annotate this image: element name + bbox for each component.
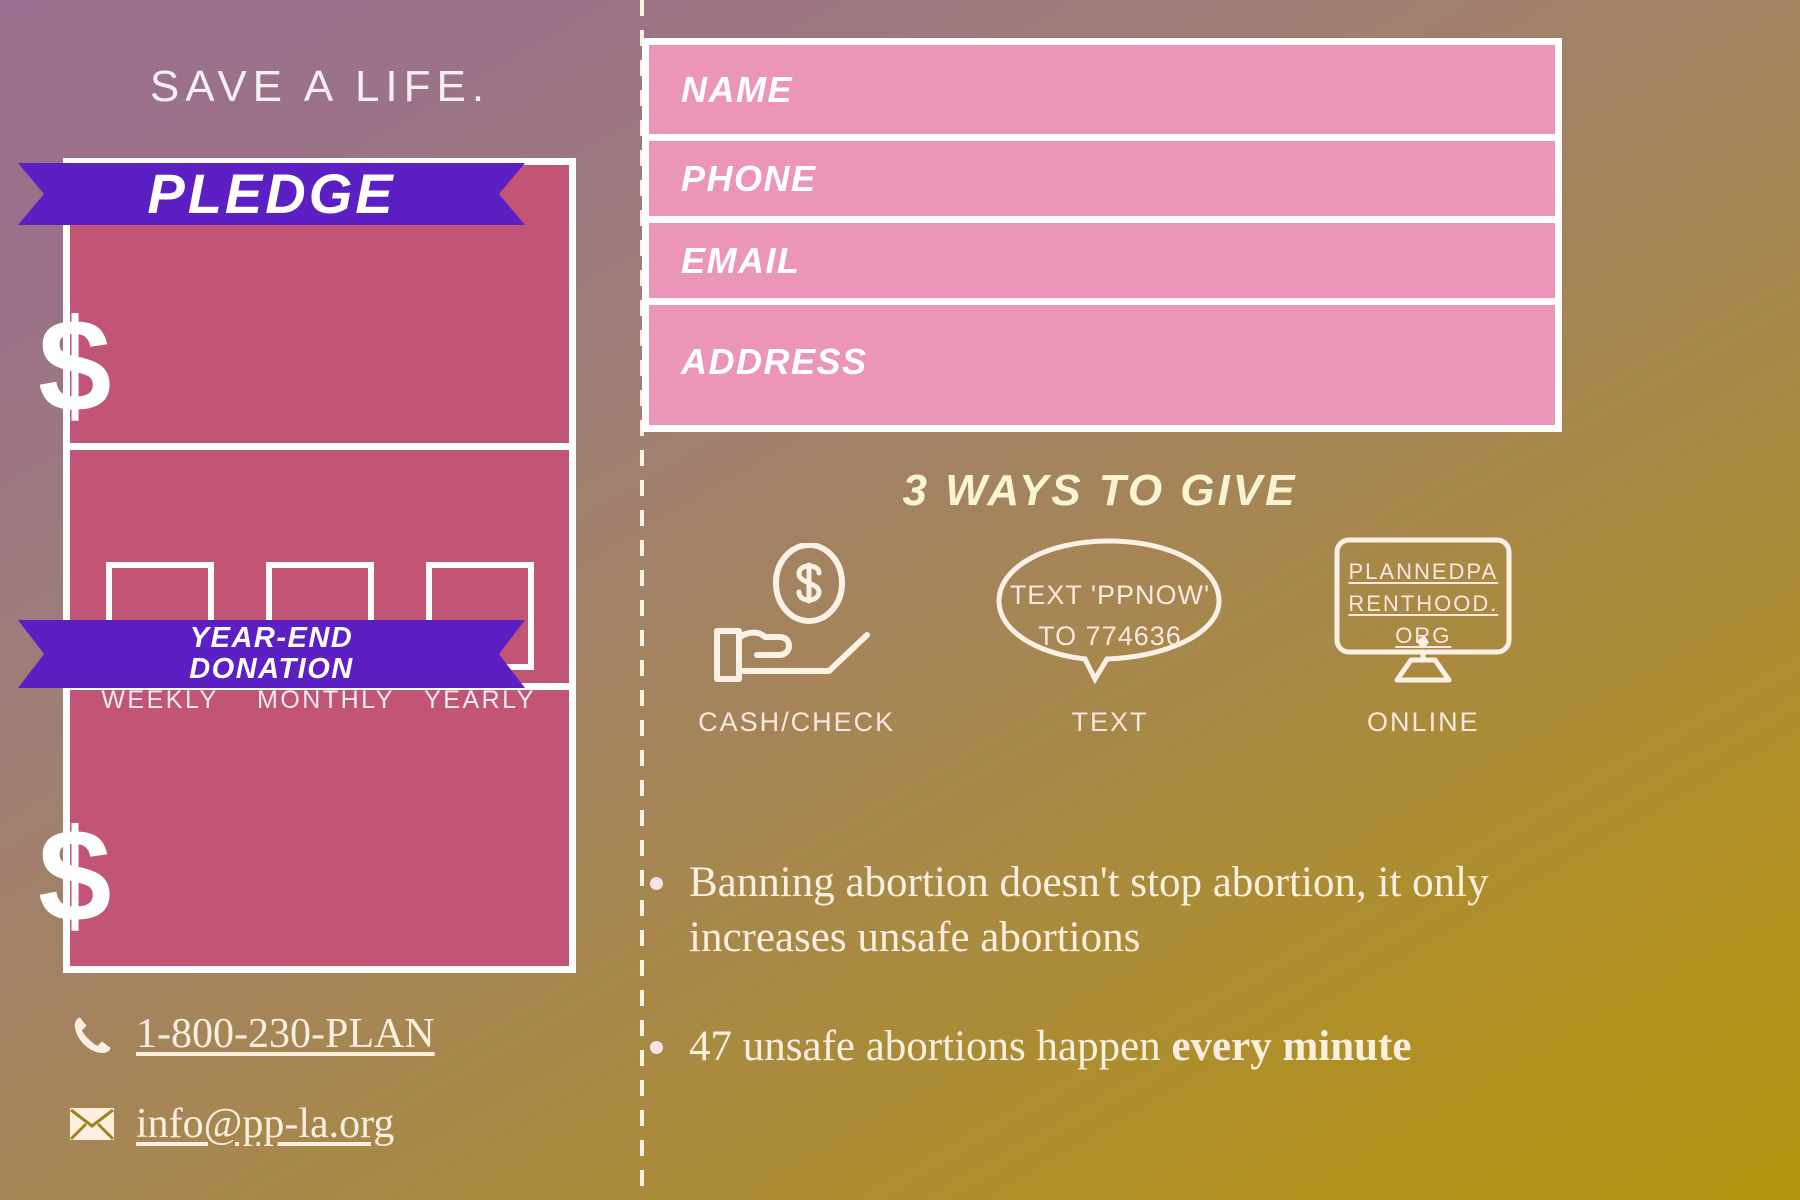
ways-to-give-list: CASH/CHECK TEXT 'PPNOW' TO 774636 TEXT: [640, 540, 1580, 738]
year-end-ribbon-line1: YEAR-END: [190, 623, 353, 654]
contact-phone[interactable]: 1-800-230-PLAN: [68, 1010, 435, 1058]
bullet-dot-icon: [650, 1041, 663, 1054]
list-item: 47 unsafe abortions happen every minute: [650, 1019, 1550, 1074]
envelope-icon: [68, 1102, 116, 1146]
year-end-donation-ribbon: YEAR-END DONATION: [44, 620, 499, 688]
fact-text-1: Banning abortion doesn't stop abortion, …: [689, 855, 1550, 965]
frequency-label-monthly: MONTHLY: [257, 686, 383, 715]
way-online[interactable]: PLANNEDPA RENTHOOD. ORG ONLINE: [1278, 540, 1568, 738]
contact-email[interactable]: info@pp-la.org: [68, 1100, 394, 1148]
way-cash-check-label: CASH/CHECK: [698, 707, 895, 738]
way-text-label: TEXT: [1071, 707, 1148, 738]
phone-icon: [68, 1012, 116, 1056]
list-item: Banning abortion doesn't stop abortion, …: [650, 855, 1550, 965]
field-name[interactable]: NAME: [649, 45, 1555, 141]
pledge-amount-field[interactable]: $: [38, 300, 111, 432]
pledge-panel: SAVE A LIFE. PLEDGE $ WEEKLY MONTHLY YEA…: [0, 0, 640, 1200]
page-title: SAVE A LIFE.: [0, 62, 640, 112]
year-end-amount-field[interactable]: $: [38, 810, 111, 942]
monitor-url-line2: RENTHOOD.: [1345, 588, 1501, 620]
monitor-url-line3: ORG: [1345, 620, 1501, 652]
field-phone-label: PHONE: [681, 158, 817, 200]
field-email[interactable]: EMAIL: [649, 223, 1555, 305]
field-address[interactable]: ADDRESS: [649, 305, 1555, 418]
facts-list: Banning abortion doesn't stop abortion, …: [650, 855, 1550, 1128]
fact-text-2-bold: every minute: [1171, 1023, 1411, 1070]
donor-form: NAME PHONE EMAIL ADDRESS: [642, 38, 1562, 432]
field-phone[interactable]: PHONE: [649, 141, 1555, 223]
fact-text-2-pre: 47 unsafe abortions happen: [689, 1023, 1171, 1070]
monitor-url-line1: PLANNEDPA: [1345, 556, 1501, 588]
monitor-icon: PLANNEDPA RENTHOOD. ORG: [1323, 540, 1523, 685]
frequency-label-yearly: YEARLY: [417, 686, 543, 715]
text-bubble-line1: TEXT 'PPNOW': [987, 575, 1232, 616]
way-text[interactable]: TEXT 'PPNOW' TO 774636 TEXT: [965, 540, 1255, 738]
pledge-ribbon: PLEDGE: [44, 163, 499, 225]
year-end-ribbon-line2: DONATION: [189, 654, 354, 685]
ways-to-give-title: 3 WAYS TO GIVE: [640, 466, 1560, 516]
bullet-dot-icon: [650, 877, 663, 890]
phone-number[interactable]: 1-800-230-PLAN: [136, 1010, 435, 1058]
fact-text-2: 47 unsafe abortions happen every minute: [689, 1019, 1411, 1074]
pledge-ribbon-label: PLEDGE: [147, 166, 395, 222]
field-email-label: EMAIL: [681, 240, 801, 282]
frequency-label-weekly: WEEKLY: [97, 686, 223, 715]
hand-holding-coin-icon: [709, 540, 884, 685]
text-bubble-line2: TO 774636: [987, 616, 1232, 657]
speech-bubble-icon: TEXT 'PPNOW' TO 774636: [987, 540, 1232, 685]
email-address[interactable]: info@pp-la.org: [136, 1100, 394, 1148]
divider-line-top: [70, 443, 569, 450]
way-online-label: ONLINE: [1367, 707, 1480, 738]
donor-info-panel: NAME PHONE EMAIL ADDRESS 3 WAYS TO GIVE: [640, 0, 1800, 1200]
field-address-label: ADDRESS: [681, 341, 868, 383]
way-cash-check[interactable]: CASH/CHECK: [652, 540, 942, 738]
field-name-label: NAME: [681, 69, 793, 111]
